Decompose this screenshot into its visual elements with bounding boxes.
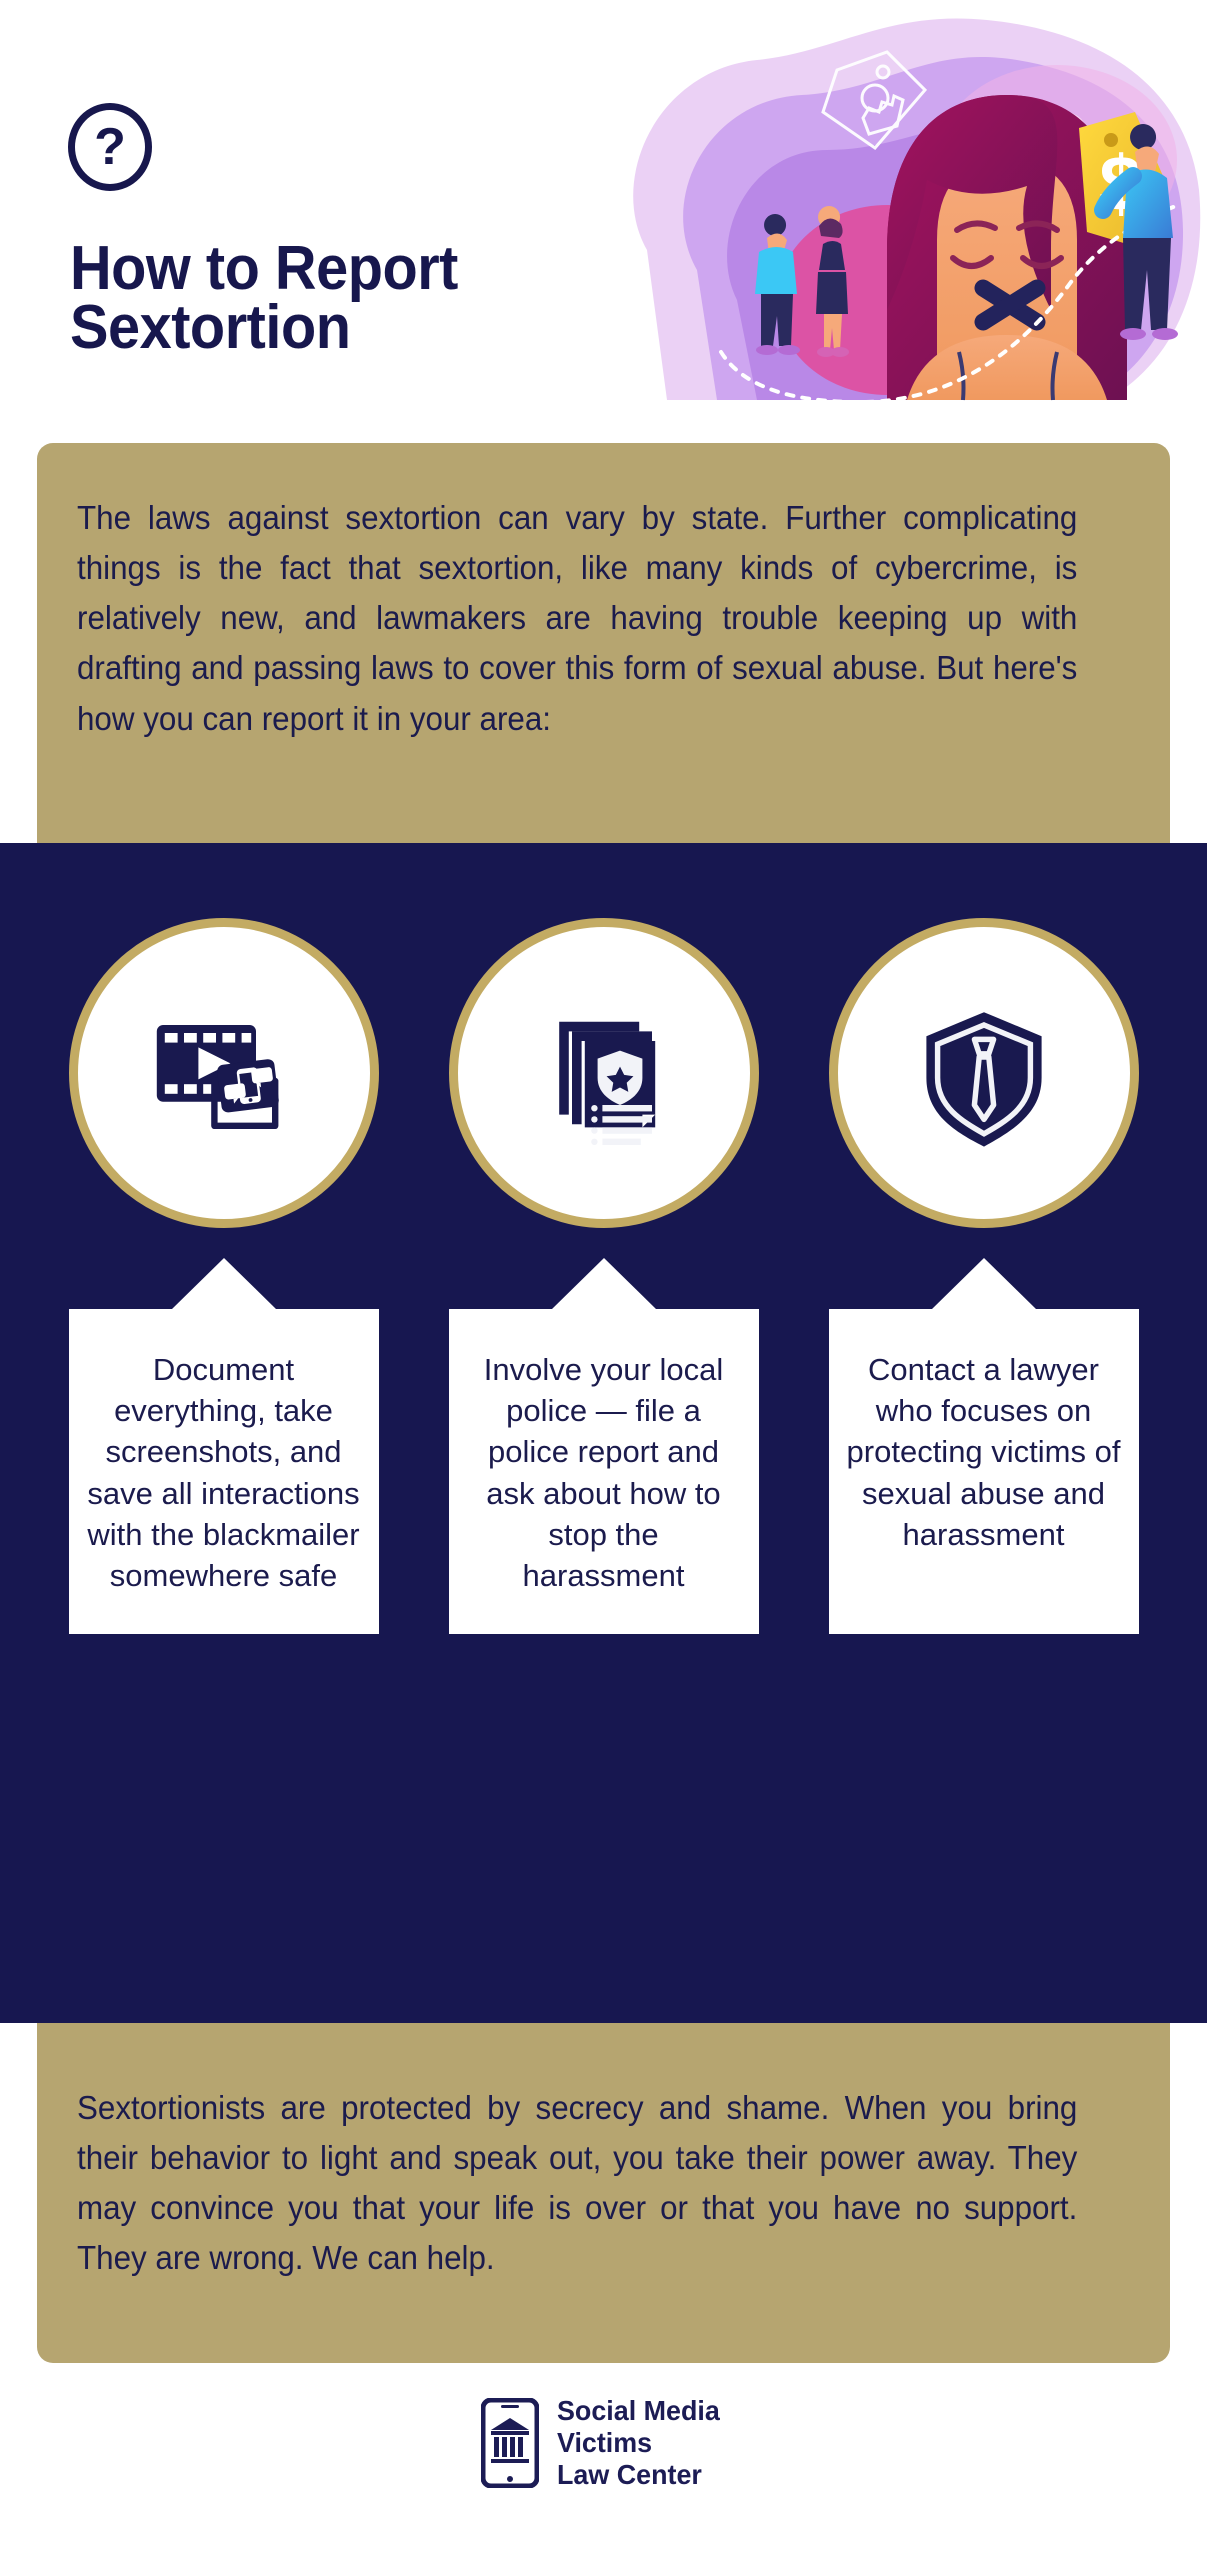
footer-logo-line-1: Social Media bbox=[557, 2395, 720, 2427]
steps-columns: Document everything, take screenshots, a… bbox=[0, 843, 1207, 2023]
outro-panel: Sextortionists are protected by secrecy … bbox=[37, 2023, 1170, 2363]
intro-panel: The laws against sextortion can vary by … bbox=[37, 443, 1170, 843]
step-column-2: Involve your local police — file a polic… bbox=[449, 918, 759, 2023]
outro-paragraph: Sextortionists are protected by secrecy … bbox=[77, 2083, 1077, 2284]
police-report-documents-icon bbox=[524, 993, 684, 1153]
step-card-2: Involve your local police — file a polic… bbox=[449, 1309, 759, 1634]
step-icon-circle-3 bbox=[829, 918, 1139, 1228]
shield-necktie-lawyer-icon bbox=[904, 993, 1064, 1153]
intro-paragraph: The laws against sextortion can vary by … bbox=[77, 493, 1077, 744]
step-card-3: Contact a lawyer who focuses on protecti… bbox=[829, 1309, 1139, 1634]
footer-logo-text: Social Media Victims Law Center bbox=[557, 2395, 720, 2491]
step-icon-circle-2 bbox=[449, 918, 759, 1228]
step-icon-circle-1 bbox=[69, 918, 379, 1228]
step-card-1: Document everything, take screenshots, a… bbox=[69, 1309, 379, 1634]
phone-courthouse-logo-icon: ™ bbox=[481, 2398, 539, 2488]
step-pointer-1 bbox=[69, 1258, 379, 1310]
steps-section: Document everything, take screenshots, a… bbox=[0, 843, 1207, 2023]
sextortion-illustration: $ bbox=[587, 0, 1207, 460]
page-title-line-2: Sextortion bbox=[70, 299, 458, 358]
step-column-3: Contact a lawyer who focuses on protecti… bbox=[829, 918, 1139, 2023]
step-pointer-2 bbox=[449, 1258, 759, 1310]
footer-logo-line-3: Law Center bbox=[557, 2459, 720, 2491]
film-strip-screenshot-icon bbox=[144, 993, 304, 1153]
header-section: $ ? How to Report Sextortion bbox=[0, 0, 1207, 460]
svg-text:™: ™ bbox=[535, 2478, 539, 2488]
step-column-1: Document everything, take screenshots, a… bbox=[69, 918, 379, 2023]
footer-logo[interactable]: ™ Social Media Victims Law Center bbox=[0, 2395, 1207, 2491]
footer-logo-line-2: Victims bbox=[557, 2427, 720, 2459]
question-mark-icon: ? bbox=[68, 103, 152, 191]
illustration-svg: $ bbox=[587, 0, 1207, 460]
page-title: How to Report Sextortion bbox=[70, 240, 458, 358]
step-pointer-3 bbox=[829, 1258, 1139, 1310]
